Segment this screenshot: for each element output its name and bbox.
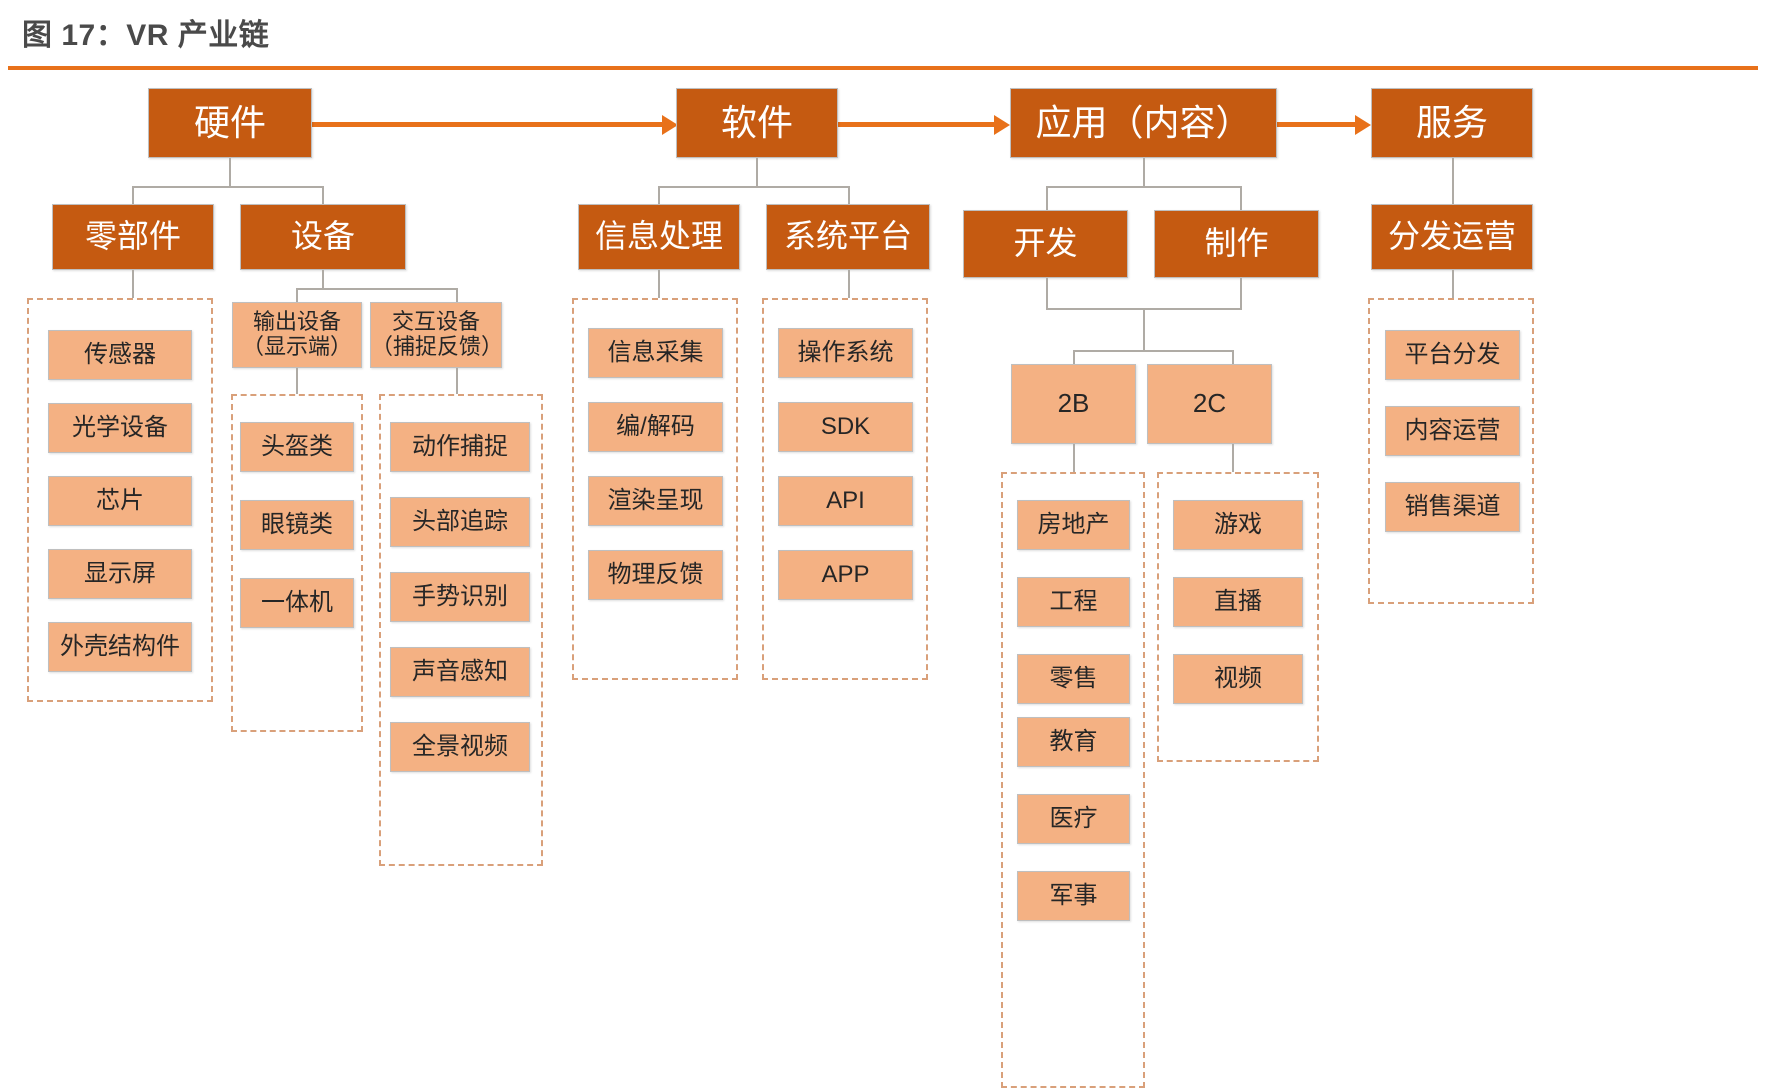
leaf-components-2[interactable]: 芯片 bbox=[48, 476, 192, 526]
leaf-info-processing-2[interactable]: 渲染呈现 bbox=[588, 476, 723, 526]
leaf-2c-2[interactable]: 视频 bbox=[1173, 654, 1303, 704]
leaf-interactive-device-1[interactable]: 头部追踪 bbox=[390, 497, 530, 547]
connector-software-stem bbox=[756, 158, 758, 186]
flow-arrowhead-application bbox=[994, 115, 1010, 135]
connector-2b-stem bbox=[1073, 444, 1075, 472]
leaf-2b-4[interactable]: 医疗 bbox=[1017, 794, 1130, 844]
connector-devices-bus bbox=[296, 288, 458, 290]
node-development[interactable]: 开发 bbox=[963, 210, 1128, 278]
node-output-device[interactable]: 输出设备 （显示端） bbox=[232, 302, 362, 368]
vr-industry-chain-diagram: 硬件 软件 应用（内容） 服务 零部件 设备 输出设备 （显示端） 交互设备 （… bbox=[0, 72, 1766, 1038]
connector-devices-stem bbox=[322, 270, 324, 288]
connector-hardware-bus bbox=[132, 186, 324, 188]
node-interactive-device[interactable]: 交互设备 （捕捉反馈） bbox=[370, 302, 502, 368]
group-frame-2b bbox=[1001, 472, 1145, 1088]
leaf-2c-0[interactable]: 游戏 bbox=[1173, 500, 1303, 550]
flow-arrow-software-to-application bbox=[838, 122, 996, 127]
leaf-components-3[interactable]: 显示屏 bbox=[48, 549, 192, 599]
header-divider bbox=[8, 66, 1758, 70]
leaf-2b-1[interactable]: 工程 bbox=[1017, 577, 1130, 627]
connector-2c-stem bbox=[1232, 444, 1234, 472]
node-2c[interactable]: 2C bbox=[1147, 364, 1272, 444]
leaf-output-device-2[interactable]: 一体机 bbox=[240, 578, 354, 628]
connector-output-device-stem bbox=[296, 368, 298, 394]
leaf-2b-3[interactable]: 教育 bbox=[1017, 717, 1130, 767]
node-production[interactable]: 制作 bbox=[1154, 210, 1319, 278]
leaf-info-processing-1[interactable]: 编/解码 bbox=[588, 402, 723, 452]
page-title: 图 17：VR 产业链 bbox=[22, 10, 269, 54]
connector-development-down bbox=[1046, 278, 1048, 308]
leaf-components-1[interactable]: 光学设备 bbox=[48, 403, 192, 453]
connector-service-stem bbox=[1452, 158, 1454, 204]
connector-software-bus bbox=[658, 186, 848, 188]
connector-to-devices bbox=[322, 186, 324, 204]
connector-to-interactive-device bbox=[456, 288, 458, 302]
leaf-interactive-device-3[interactable]: 声音感知 bbox=[390, 647, 530, 697]
leaf-components-0[interactable]: 传感器 bbox=[48, 330, 192, 380]
connector-to-components bbox=[132, 186, 134, 204]
leaf-components-4[interactable]: 外壳结构件 bbox=[48, 622, 192, 672]
node-software[interactable]: 软件 bbox=[676, 88, 838, 158]
node-application[interactable]: 应用（内容） bbox=[1010, 88, 1277, 158]
leaf-interactive-device-0[interactable]: 动作捕捉 bbox=[390, 422, 530, 472]
leaf-output-device-1[interactable]: 眼镜类 bbox=[240, 500, 354, 550]
leaf-2b-2[interactable]: 零售 bbox=[1017, 654, 1130, 704]
flow-arrow-hardware-to-software bbox=[312, 122, 664, 127]
connector-application-bus bbox=[1046, 186, 1242, 188]
leaf-interactive-device-4[interactable]: 全景视频 bbox=[390, 722, 530, 772]
connector-application-stem bbox=[1143, 158, 1145, 186]
connector-to-2c bbox=[1232, 350, 1234, 364]
leaf-system-platform-0[interactable]: 操作系统 bbox=[778, 328, 913, 378]
connector-to-system-platform bbox=[848, 186, 850, 204]
connector-to-production bbox=[1240, 186, 1242, 210]
leaf-distribution-ops-0[interactable]: 平台分发 bbox=[1385, 330, 1520, 380]
connector-distribution-ops-stem bbox=[1452, 270, 1454, 298]
leaf-distribution-ops-1[interactable]: 内容运营 bbox=[1385, 406, 1520, 456]
leaf-info-processing-3[interactable]: 物理反馈 bbox=[588, 550, 723, 600]
node-hardware[interactable]: 硬件 bbox=[148, 88, 312, 158]
connector-to-2b bbox=[1073, 350, 1075, 364]
connector-to-info-processing bbox=[658, 186, 660, 204]
leaf-system-platform-2[interactable]: API bbox=[778, 476, 913, 526]
node-info-processing[interactable]: 信息处理 bbox=[578, 204, 740, 270]
connector-info-processing-stem bbox=[658, 270, 660, 298]
leaf-system-platform-1[interactable]: SDK bbox=[778, 402, 913, 452]
leaf-output-device-0[interactable]: 头盔类 bbox=[240, 422, 354, 472]
node-devices[interactable]: 设备 bbox=[240, 204, 406, 270]
leaf-2b-5[interactable]: 军事 bbox=[1017, 871, 1130, 921]
node-system-platform[interactable]: 系统平台 bbox=[766, 204, 930, 270]
node-components[interactable]: 零部件 bbox=[52, 204, 214, 270]
leaf-interactive-device-2[interactable]: 手势识别 bbox=[390, 572, 530, 622]
connector-hardware-stem bbox=[229, 158, 231, 186]
connector-to-development bbox=[1046, 186, 1048, 210]
connector-components-stem bbox=[132, 270, 134, 298]
leaf-2c-1[interactable]: 直播 bbox=[1173, 577, 1303, 627]
leaf-2b-0[interactable]: 房地产 bbox=[1017, 500, 1130, 550]
connector-system-platform-stem bbox=[848, 270, 850, 298]
connector-interactive-device-stem bbox=[456, 368, 458, 394]
node-service[interactable]: 服务 bbox=[1371, 88, 1533, 158]
leaf-info-processing-0[interactable]: 信息采集 bbox=[588, 328, 723, 378]
flow-arrow-application-to-service bbox=[1277, 122, 1357, 127]
flow-arrowhead-service bbox=[1355, 115, 1371, 135]
node-2b[interactable]: 2B bbox=[1011, 364, 1136, 444]
connector-production-down bbox=[1240, 278, 1242, 308]
leaf-distribution-ops-2[interactable]: 销售渠道 bbox=[1385, 482, 1520, 532]
connector-to-output-device bbox=[296, 288, 298, 302]
connector-2b2c-bus bbox=[1073, 350, 1233, 352]
node-distribution-ops[interactable]: 分发运营 bbox=[1371, 204, 1533, 270]
connector-merge-stem bbox=[1143, 308, 1145, 350]
leaf-system-platform-3[interactable]: APP bbox=[778, 550, 913, 600]
